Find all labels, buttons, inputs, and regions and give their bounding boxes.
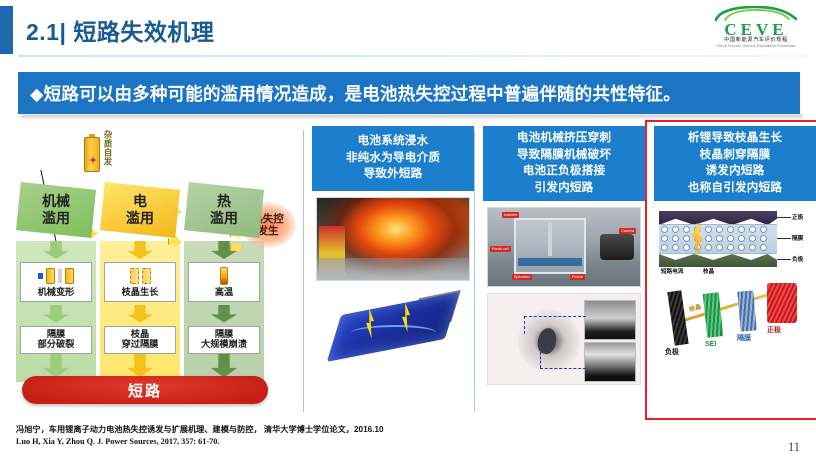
stage-label: 机械变形 xyxy=(21,287,91,298)
flow-column-electrical: 电 滥用 枝晶生长 枝晶 穿过隔膜 xyxy=(100,182,180,382)
header-divider xyxy=(18,55,808,57)
citation-2: Luo H, Xia Y, Zhou Q. J. Power Sources, … xyxy=(16,436,636,448)
trigger-label: 杂质自发 xyxy=(102,130,114,166)
flow-stage-mechanical-1: 机械变形 xyxy=(20,262,92,302)
stage-label-line2: 部分破裂 xyxy=(21,339,91,350)
panel-1-head-line-2: 非纯水为导电介质 xyxy=(346,151,440,164)
panel-3-head-line-3: 诱发内短路 xyxy=(706,164,765,177)
banner-line-1: 热 xyxy=(217,193,231,209)
section-title: 短路失效机理 xyxy=(73,19,214,45)
flow-banner-thermal: 热 滥用 xyxy=(184,182,264,238)
dendrite-cell-icon xyxy=(105,265,175,287)
panel-internal-short-crush: 电池机械挤压穿刺 导致隔膜机械破坏 电池正负极搭接 引发内短路 Indenter… xyxy=(483,126,645,414)
logo-english-name: China Electric Vehicle Evaluation Proced… xyxy=(704,44,808,49)
mechanical-indentation-test-rig-photo: Indenter Camera Pouch cell Specimen Fixt… xyxy=(487,207,641,287)
panel-divider xyxy=(474,130,475,412)
panel-2-body: Indenter Camera Pouch cell Specimen Fixt… xyxy=(483,207,645,385)
flow-track-electrical: 枝晶生长 枝晶 穿过隔膜 xyxy=(100,241,180,382)
panel-1-body xyxy=(312,197,474,363)
flow-banner-electrical: 电 滥用 xyxy=(100,182,180,238)
banner-line-2: 滥用 xyxy=(210,210,238,226)
slide: 2.1| 短路失效机理 CEVE 中国新能源汽车评价规程 China Elect… xyxy=(0,0,816,464)
flow-banner-mechanical: 机械 滥用 xyxy=(16,182,96,238)
panel-self-induced-internal-short: 析锂导致枝晶生长 枝晶刺穿隔膜 诱发内短路 也称自引发内短路 xyxy=(654,126,816,414)
flow-track-mechanical: 机械变形 隔膜 部分破裂 xyxy=(16,241,96,382)
ceve-logo: CEVE 中国新能源汽车评价规程 China Electric Vehicle … xyxy=(704,6,808,50)
label-separator-3d: 隔膜 xyxy=(737,333,751,343)
stage-label-line1: 枝晶 xyxy=(105,329,175,340)
banner-statement: 短路可以由多种可能的滥用情况造成，是电池热失控过程中普遍伴随的共性特征。 xyxy=(44,84,681,104)
citation-1: 冯旭宁，车用锂离子动力电池热失控诱发与扩展机理、建模与防控， 清华大学博士学位论… xyxy=(16,424,636,436)
panel-3-head-line-4: 也称自引发内短路 xyxy=(688,181,782,194)
banner-text: ◆短路可以由多种可能的滥用情况造成，是电池热失控过程中普遍伴随的共性特征。 xyxy=(18,81,681,106)
cathode-plate xyxy=(767,283,797,323)
panel-2-header: 电池机械挤压穿刺 导致隔膜机械破坏 电池正负极搭接 引发内短路 xyxy=(483,126,645,201)
sei-plate xyxy=(703,292,724,337)
label-separator: 隔膜 xyxy=(792,234,803,242)
label-anode-3d: 负极 xyxy=(665,347,679,357)
panel-2-head-line-4: 引发内短路 xyxy=(535,181,594,194)
label-cathode: 正极 xyxy=(792,213,803,221)
panel-3-head-line-2: 枝晶刺穿隔膜 xyxy=(700,148,771,161)
spark-icon xyxy=(89,156,97,164)
panel-divider xyxy=(645,130,646,412)
banner-shadow xyxy=(21,114,803,118)
key-message-banner: ◆短路可以由多种可能的滥用情况造成，是电池热失控过程中普遍伴随的共性特征。 xyxy=(18,72,800,114)
panel-2-head-line-2: 导致隔膜机械破坏 xyxy=(517,148,611,161)
slide-body: 杂质自发 机械 滥用 xyxy=(0,122,816,418)
label-short-circuit-current: 短路电流 xyxy=(661,267,683,275)
cathode-layer xyxy=(659,211,777,225)
flow-stage-thermal-2: 隔膜 大规模崩溃 xyxy=(188,326,260,354)
section-number: 2.1| xyxy=(26,19,66,45)
slide-header: 2.1| 短路失效机理 xyxy=(0,0,816,58)
flow-column-mechanical: 机械 滥用 机械变形 隔膜 xyxy=(16,182,96,382)
down-arrow-icon xyxy=(43,241,69,259)
down-arrow-icon xyxy=(211,305,237,323)
panel-3-body: 正极 隔膜 负极 短路电流 枝晶 负极 SEI 隔膜 xyxy=(654,207,816,359)
flow-column-thermal: 热 滥用 高温 隔膜 大规模崩溃 xyxy=(184,182,264,382)
panel-1-header: 电池系统浸水 非纯水为导电介质 导致外短路 xyxy=(312,126,474,191)
flow-track-thermal: 高温 隔膜 大规模崩溃 xyxy=(184,241,264,382)
flow-outcome-short-circuit: 短路 xyxy=(22,376,268,404)
bus-fire-flood-photo xyxy=(316,197,470,281)
ct-cross-section-analysis xyxy=(487,293,641,385)
down-arrow-icon xyxy=(127,305,153,323)
flow-stage-electrical-2: 枝晶 穿过隔膜 xyxy=(104,326,176,354)
separator-plate xyxy=(737,290,756,331)
deformed-cell-icon xyxy=(21,265,91,287)
panel-2-head-line-1: 电池机械挤压穿刺 xyxy=(517,131,611,144)
panel-1-head-line-3: 导致外短路 xyxy=(364,167,423,180)
stage-label-line1: 隔膜 xyxy=(21,329,91,340)
layered-dendrite-3d-render: 负极 SEI 隔膜 正极 枝晶 xyxy=(659,277,811,359)
label-anode: 负极 xyxy=(792,255,803,263)
panel-2-head-line-3: 电池正负极搭接 xyxy=(523,164,606,177)
stage-label-line2: 大规模崩溃 xyxy=(189,339,259,350)
thermometer-icon xyxy=(189,265,259,287)
page-title: 2.1| 短路失效机理 xyxy=(26,13,214,47)
banner-bullet-icon: ◆ xyxy=(30,84,44,104)
page-number: 11 xyxy=(788,440,800,455)
stage-label-line1: 隔膜 xyxy=(189,329,259,340)
header-accent-bar xyxy=(0,6,13,54)
banner-line-1: 电 xyxy=(133,193,147,209)
stage-label: 高温 xyxy=(189,287,259,298)
label-sei-3d: SEI xyxy=(705,341,716,348)
label-dendrite-3d: 枝晶 xyxy=(688,302,702,314)
stage-label-line2: 穿过隔膜 xyxy=(105,339,175,350)
logo-chinese-name: 中国新能源汽车评价规程 xyxy=(704,37,808,44)
label-dendrite: 枝晶 xyxy=(703,267,714,275)
burst-line-2: 发生 xyxy=(258,225,279,237)
logo-wordmark: CEVE xyxy=(704,22,808,37)
down-arrow-icon xyxy=(127,241,153,259)
separator-dendrite-schematic: 正极 隔膜 负极 短路电流 枝晶 xyxy=(659,207,811,273)
banner-line-1: 机械 xyxy=(42,193,70,209)
panel-3-head-line-1: 析锂导致枝晶生长 xyxy=(688,131,782,144)
flow-stage-thermal-1: 高温 xyxy=(188,262,260,302)
abuse-mechanism-flowchart: 杂质自发 机械 滥用 xyxy=(8,124,300,416)
panel-divider xyxy=(303,130,304,412)
label-cathode-3d: 正极 xyxy=(767,325,781,335)
banner-line-2: 滥用 xyxy=(126,210,154,226)
slide-footer: 冯旭宁，车用锂离子动力电池热失控诱发与扩展机理、建模与防控， 清华大学博士学位论… xyxy=(16,424,636,448)
panel-3-header: 析锂导致枝晶生长 枝晶刺穿隔膜 诱发内短路 也称自引发内短路 xyxy=(654,126,816,201)
down-arrow-icon xyxy=(43,305,69,323)
panel-1-head-line-1: 电池系统浸水 xyxy=(358,134,429,147)
battery-icon xyxy=(84,134,100,172)
panel-external-short-water: 电池系统浸水 非纯水为导电介质 导致外短路 xyxy=(312,126,474,414)
banner-line-2: 滥用 xyxy=(42,210,70,226)
battery-pack-3d-render xyxy=(328,289,458,363)
anode-layer xyxy=(659,254,777,267)
flow-stage-electrical-1: 枝晶生长 xyxy=(104,262,176,302)
pore-dots xyxy=(661,226,775,252)
stage-label: 枝晶生长 xyxy=(105,287,175,298)
flow-stage-mechanical-2: 隔膜 部分破裂 xyxy=(20,326,92,354)
